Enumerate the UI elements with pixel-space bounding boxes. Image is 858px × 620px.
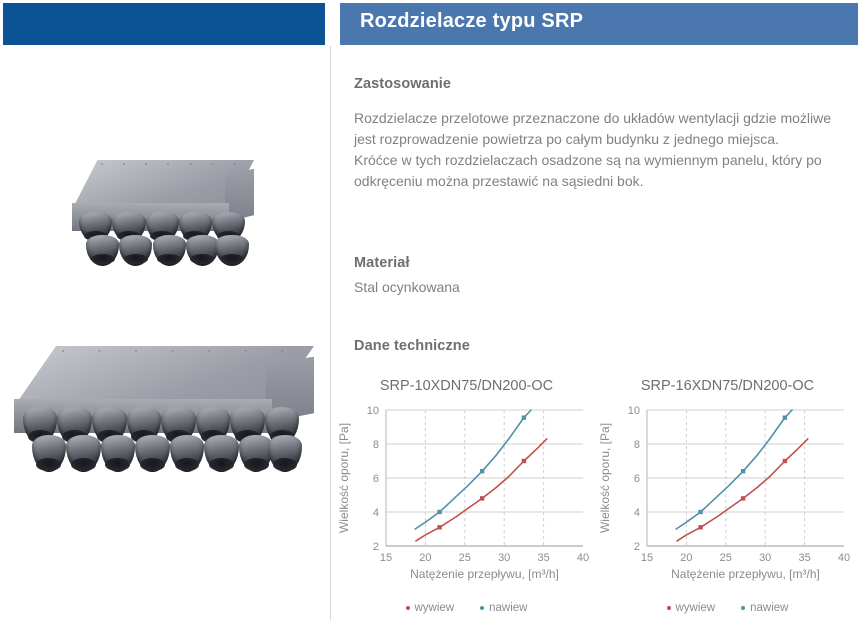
svg-text:30: 30: [759, 552, 771, 564]
svg-text:8: 8: [373, 439, 379, 451]
column-divider: [330, 46, 331, 620]
svg-text:15: 15: [641, 552, 653, 564]
chart-title: SRP-10XDN75/DN200-OC: [336, 378, 597, 394]
section-material: Materiał Stal ocynkowana: [354, 255, 854, 298]
legend-label: nawiew: [750, 602, 788, 614]
svg-text:15: 15: [380, 552, 392, 564]
chart-card-srp-10: SRP-10XDN75/DN200-OC 152025303540246810N…: [336, 378, 597, 618]
svg-text:20: 20: [419, 552, 431, 564]
legend-entry-nawiew: nawiew: [741, 602, 788, 614]
plenum-port-group: [20, 404, 308, 478]
svg-text:10: 10: [628, 405, 640, 417]
plenum-port: [101, 435, 136, 472]
legend-entry-nawiew: nawiew: [480, 602, 527, 614]
plenum-port: [268, 435, 303, 472]
plenum-port: [119, 235, 152, 265]
plenum-port: [66, 435, 101, 472]
plenum-port: [215, 235, 248, 265]
svg-text:35: 35: [798, 552, 810, 564]
svg-text:4: 4: [373, 507, 379, 519]
plenum-port: [32, 435, 67, 472]
chart-legend: wywiew nawiew: [597, 602, 858, 614]
plenum-port: [86, 235, 119, 265]
page-title: Rozdzielacze typu SRP: [360, 10, 583, 33]
material-value: Stal ocynkowana: [354, 277, 854, 298]
svg-text:6: 6: [634, 473, 640, 485]
srp-10-plenum-photo: [72, 160, 254, 268]
svg-text:Natężenie przepływu, [m³/h]: Natężenie przepływu, [m³/h]: [671, 567, 820, 581]
material-heading: Materiał: [354, 255, 854, 271]
plenum-port: [170, 435, 205, 472]
svg-text:6: 6: [373, 473, 379, 485]
svg-text:25: 25: [459, 552, 471, 564]
legend-entry-wywiew: wywiew: [667, 602, 716, 614]
legend-dot-nawiew: [480, 606, 484, 610]
svg-text:Wielkość oporu, [Pa]: Wielkość oporu, [Pa]: [337, 423, 351, 533]
svg-text:8: 8: [634, 439, 640, 451]
legend-label: wywiew: [676, 602, 716, 614]
plenum-rivet-row: [101, 163, 239, 165]
section-dane-techniczne: Dane techniczne: [354, 338, 854, 354]
plenum-port: [135, 435, 170, 472]
svg-text:35: 35: [537, 552, 549, 564]
legend-dot-wywiew: [406, 606, 410, 610]
legend-dot-wywiew: [667, 606, 671, 610]
charts-row: SRP-10XDN75/DN200-OC 152025303540246810N…: [336, 378, 858, 618]
chart-legend: wywiew nawiew: [336, 602, 597, 614]
svg-text:10: 10: [367, 405, 379, 417]
svg-text:2: 2: [373, 541, 379, 553]
plenum-port-group: [76, 210, 251, 268]
svg-text:4: 4: [634, 507, 640, 519]
svg-text:30: 30: [498, 552, 510, 564]
svg-text:Natężenie przepływu, [m³/h]: Natężenie przepływu, [m³/h]: [410, 567, 559, 581]
legend-label: wywiew: [415, 602, 455, 614]
plenum-port: [204, 435, 239, 472]
svg-text:20: 20: [680, 552, 692, 564]
svg-text:2: 2: [634, 541, 640, 553]
right-column: Rozdzielacze typu SRP Zastosowanie Rozdz…: [336, 0, 858, 620]
svg-text:Wielkość oporu, [Pa]: Wielkość oporu, [Pa]: [598, 423, 612, 533]
left-accent-bar: [3, 3, 325, 45]
section-zastosowanie: Zastosowanie Rozdzielacze przelotowe prz…: [354, 76, 854, 192]
svg-text:25: 25: [720, 552, 732, 564]
chart-card-srp-16: SRP-16XDN75/DN200-OC 152025303540246810N…: [597, 378, 858, 618]
svg-text:40: 40: [838, 552, 850, 564]
svg-text:40: 40: [577, 552, 589, 564]
chart-title: SRP-16XDN75/DN200-OC: [597, 378, 858, 394]
legend-entry-wywiew: wywiew: [406, 602, 455, 614]
left-column: [0, 0, 330, 620]
srp-16-plenum-photo: [14, 346, 314, 478]
plenum-rivet-row: [62, 350, 290, 352]
chart-plot: 152025303540246810Natężenie przepływu, […: [597, 400, 858, 601]
zastosowanie-paragraph-1: Rozdzielacze przelotowe przeznaczone do …: [354, 108, 854, 150]
chart-plot: 152025303540246810Natężenie przepływu, […: [336, 400, 597, 601]
zastosowanie-paragraph-2: Króćce w tych rozdzielaczach osadzone są…: [354, 150, 854, 192]
zastosowanie-heading: Zastosowanie: [354, 76, 854, 92]
legend-dot-nawiew: [741, 606, 745, 610]
legend-label: nawiew: [489, 602, 527, 614]
dane-techniczne-heading: Dane techniczne: [354, 338, 854, 354]
plenum-port: [186, 235, 219, 265]
plenum-port: [153, 235, 186, 265]
